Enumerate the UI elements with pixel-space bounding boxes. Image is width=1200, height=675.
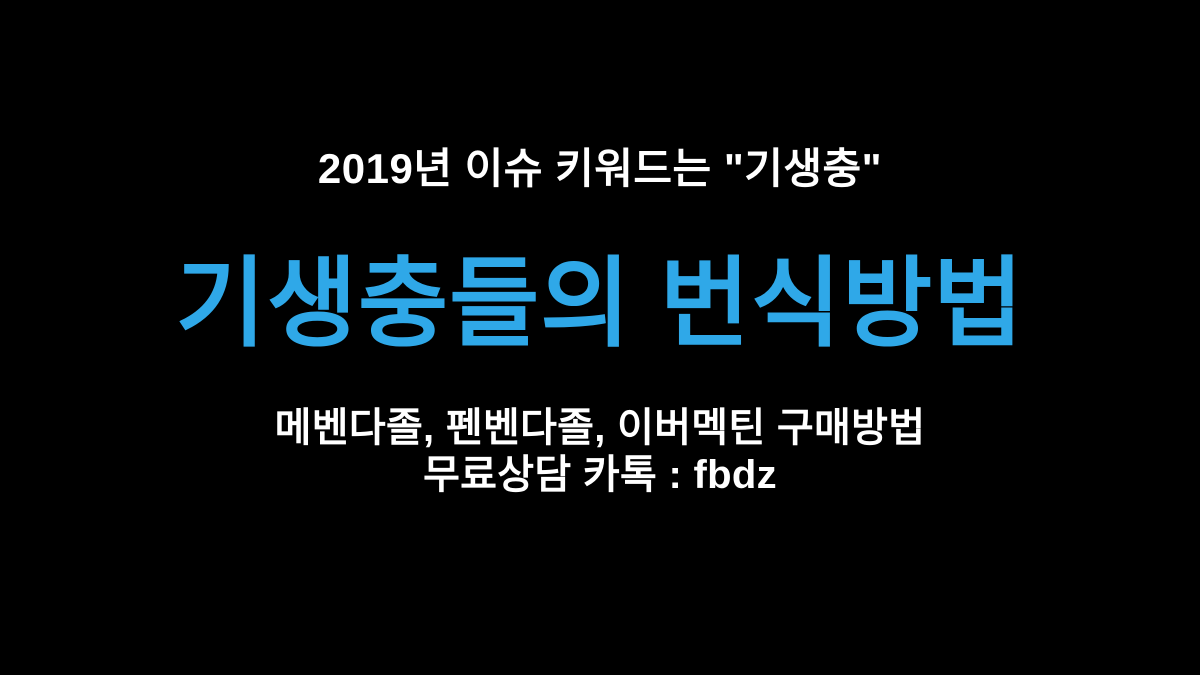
footer-line-products: 메벤다졸, 펜벤다졸, 이버멕틴 구매방법 <box>275 405 926 452</box>
headline-text: 기생충들의 번식방법 <box>20 247 1180 359</box>
eyebrow-text: 2019년 이슈 키워드는 "기생충" <box>50 143 1150 195</box>
title-text-stack: 2019년 이슈 키워드는 "기생충" 기생충들의 번식방법 메벤다졸, 펜벤다… <box>0 0 1200 675</box>
video-title-card: 2019년 이슈 키워드는 "기생충" 기생충들의 번식방법 메벤다졸, 펜벤다… <box>0 0 1200 675</box>
footer-text-block: 메벤다졸, 펜벤다졸, 이버멕틴 구매방법 무료상담 카톡 : fbdz <box>40 405 1160 499</box>
footer-line-contact: 무료상담 카톡 : fbdz <box>423 452 777 499</box>
